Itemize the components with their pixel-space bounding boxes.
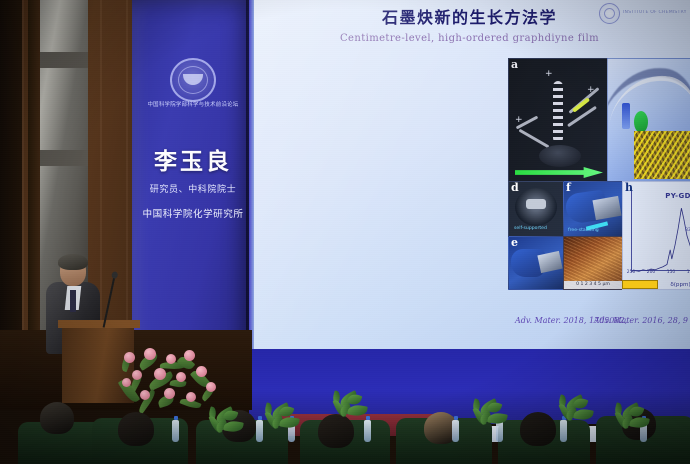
xtick-150: 150 (667, 270, 675, 275)
panel-h-nmr: h PY-GDY 83.5 250200150100500 δ(ppm) (622, 181, 690, 290)
flower-bloom (166, 354, 176, 364)
banner-speaker-name: 李玉良 (132, 142, 254, 176)
panel-d: d self-supported (508, 181, 564, 237)
audience-area (0, 392, 690, 464)
peeled-film (592, 196, 621, 220)
potted-plant (262, 406, 302, 446)
arm-1 (519, 129, 550, 149)
flower-bloom (124, 352, 135, 363)
flower-bloom (144, 348, 156, 360)
chain-graphic (553, 81, 563, 143)
chart-h-trace (631, 200, 690, 276)
speaker-tie (70, 290, 76, 312)
institute-logo: INSTITUTE OF CHEMISTRY CHINESE ACADEMY O… (599, 2, 687, 24)
panel-e: e (508, 236, 564, 290)
audience-head (40, 402, 74, 434)
cross-icon-top: + (545, 69, 553, 79)
panel-afm: 0 1 2 3 4 5 µm (563, 236, 623, 290)
audience-head (118, 412, 154, 446)
cross-icon-left: + (515, 115, 523, 125)
pillar-edge-shadow (28, 0, 40, 360)
audience-head (520, 412, 556, 446)
institute-logo-text: INSTITUTE OF CHEMISTRY CHINESE ACADEMY O… (623, 10, 687, 16)
panel-f2-overlay-text: free-standing (568, 228, 599, 233)
panel-e-label: e (511, 237, 518, 249)
citation-right: Adv. Mater. 2016, 28, 9 (594, 316, 688, 325)
flower-bloom (122, 378, 131, 387)
potted-plant (470, 402, 514, 446)
film-held (537, 251, 562, 273)
highlight-bar (622, 280, 658, 289)
film-on-dish (526, 199, 546, 209)
chart-h-peak-annotation: 83.5 (685, 228, 690, 233)
chart-h-title: PY-GDY (623, 192, 690, 200)
gold-substrate (634, 131, 690, 179)
institute-logo-icon (599, 3, 620, 24)
panel-d-label: d (511, 182, 519, 194)
panel-f-spray: f (607, 58, 690, 182)
projection-screen: 石墨炔新的生长方法学 Centimetre-level, high-ordere… (249, 0, 690, 350)
banner-speaker-role: 研究员、中科院院士 (132, 182, 254, 195)
potted-plant (556, 398, 604, 446)
conference-photo-scene: 中国科学院学部科学与技术前沿论坛 李玉良 研究员、中科院院士 中国科学院化学研究… (0, 0, 690, 464)
speaker-hair (58, 254, 88, 270)
water-bottle (172, 420, 179, 442)
afm-scalebar: 0 1 2 3 4 5 µm (564, 281, 622, 289)
screen-left-edge (249, 0, 254, 350)
flask-bowl (539, 145, 581, 167)
flower-bloom (184, 350, 195, 361)
slide-figure: a + + + f (508, 58, 690, 308)
potted-plant (330, 394, 382, 446)
flower-bloom (132, 370, 142, 380)
panel-a: a + + + (508, 58, 608, 182)
cross-icon-right: + (587, 85, 595, 95)
water-bottle (452, 420, 459, 442)
chart-h-xticks: 250200150100500 (631, 270, 690, 278)
panel-h-label: h (625, 182, 633, 194)
flower-bloom (206, 382, 216, 392)
panel-a-label: a (511, 59, 518, 71)
afm-scalebar-text: 0 1 2 3 4 5 µm (564, 281, 622, 289)
potted-plant (612, 406, 652, 446)
panel-f-peeling: f free-standing (563, 181, 623, 237)
slide-subtitle: Centimetre-level, high-ordered graphdiyn… (249, 33, 690, 44)
panel-f2-label: f (566, 182, 571, 194)
potted-plant (206, 410, 242, 446)
green-droplet (634, 111, 648, 133)
xtick-250: 250 (627, 270, 635, 275)
banner-organization: 中国科学院学部科学与技术前沿论坛 (138, 100, 248, 108)
pillar-band-upper (36, 52, 88, 68)
green-arrow-icon (515, 167, 603, 178)
flower-bloom (176, 372, 186, 382)
banner-speaker-institute: 中国科学院化学研究所 (132, 206, 254, 220)
blue-vial (622, 103, 630, 129)
podium-top (58, 320, 140, 328)
pillar-band-lower (36, 150, 88, 166)
flower-bloom (196, 366, 207, 377)
panel-d-overlay-text: self-supported (514, 226, 547, 231)
flower-bloom (154, 368, 166, 380)
xtick-200: 200 (647, 270, 655, 275)
cas-emblem-icon (170, 58, 216, 102)
